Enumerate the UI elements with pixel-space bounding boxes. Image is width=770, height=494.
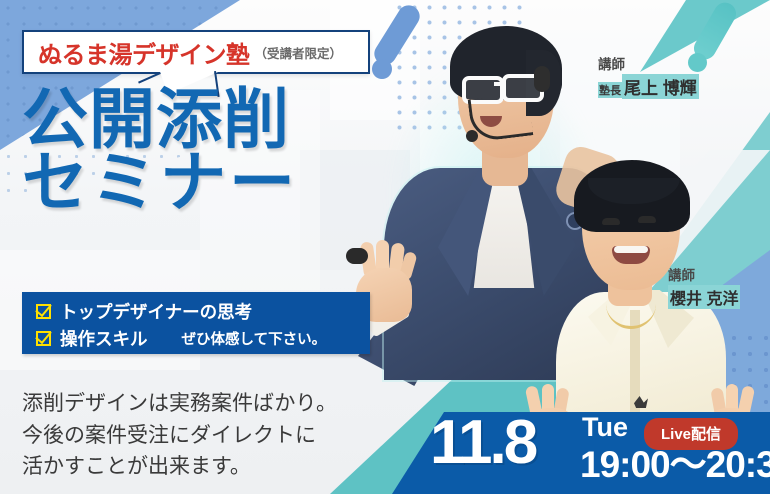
event-time-range: 19:00〜20:30: [580, 446, 770, 483]
instructor-name: 櫻井 克洋: [668, 285, 740, 309]
body-copy: 添削デザインは実務案件ばかり。 今後の案件受注にダイレクトに 活かすことが出来ま…: [22, 388, 382, 483]
check-box-icon: [36, 304, 51, 319]
speaker-two-eye-left: [602, 218, 620, 225]
speaker-two-teeth: [614, 246, 648, 253]
body-copy-line: 今後の案件受注にダイレクトに: [22, 420, 382, 452]
instructor-role: 講師: [668, 268, 740, 285]
speaker-two-eye-right: [638, 216, 656, 223]
page-title: 公開添削 セミナー: [22, 88, 422, 215]
speaker-one-glasses-bridge: [494, 82, 506, 86]
instructor-one-label: 講師 塾長 尾上 博輝: [598, 57, 699, 99]
seminar-banner: ぬるま湯デザイン塾 （受講者限定） 公開添削 セミナー トップデザイナーの思考 …: [0, 0, 770, 494]
instructor-name-line: 櫻井 克洋: [668, 285, 740, 309]
presenter-remote-icon: [346, 248, 368, 264]
exclamation-dot: [372, 59, 392, 79]
features-box: トップデザイナーの思考 操作スキル ぜひ体感して下さい。: [22, 292, 370, 354]
feature-item: トップデザイナーの思考: [36, 299, 370, 324]
bubble-subtitle: （受講者限定）: [255, 43, 343, 62]
bubble-title: ぬるま湯デザイン塾: [38, 35, 250, 70]
headset-mic-tip: [466, 130, 478, 142]
instructor-role: 講師: [598, 57, 699, 74]
headset-earpiece-icon: [534, 66, 550, 92]
event-day-of-week: Tue: [582, 414, 628, 441]
feature-item: 操作スキル ぜひ体感して下さい。: [36, 326, 370, 351]
event-date: 11.8: [430, 412, 535, 474]
body-copy-line: 添削デザインは実務案件ばかり。: [22, 388, 382, 420]
headline-line-2: セミナー: [22, 151, 422, 214]
feature-note: ぜひ体感して下さい。: [182, 328, 327, 349]
feature-label: 操作スキル: [60, 326, 148, 351]
feature-label: トップデザイナーの思考: [60, 299, 252, 324]
instructor-prefix: 塾長: [598, 82, 622, 98]
check-box-icon: [36, 331, 51, 346]
instructor-name: 尾上 博輝: [622, 74, 699, 99]
instructor-two-label: 講師 櫻井 克洋: [668, 268, 740, 309]
exclamation-mark-icon: [372, 2, 432, 87]
body-copy-line: 活かすことが出来ます。: [22, 451, 382, 483]
date-block: 11.8 Tue Live配信 19:00〜20:30: [430, 408, 770, 494]
instructor-name-line: 塾長 尾上 博輝: [598, 74, 699, 99]
course-name-bubble: ぬるま湯デザイン塾 （受講者限定）: [22, 30, 370, 74]
